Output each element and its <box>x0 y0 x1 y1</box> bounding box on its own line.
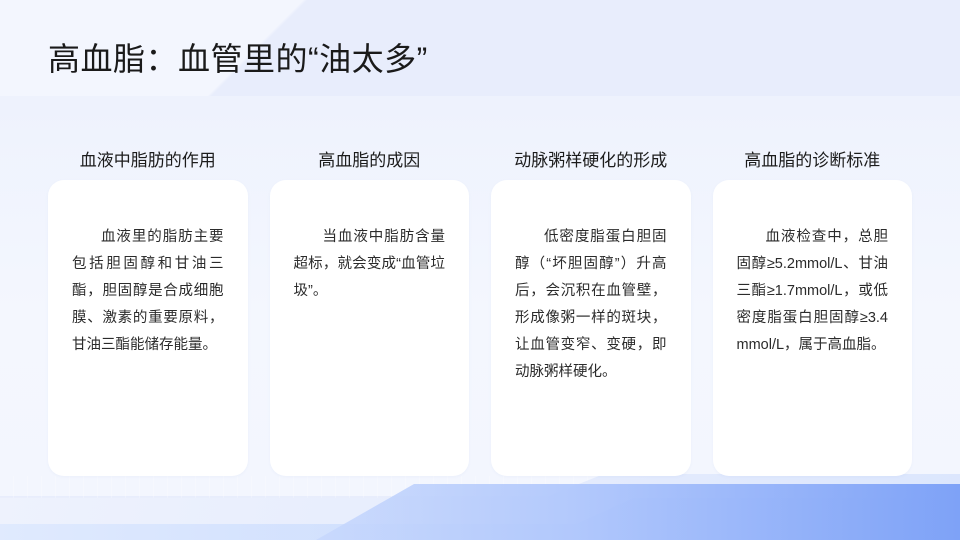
card-body-text: 当血液中脂肪含量超标，就会变成“血管垃圾”。 <box>294 224 446 305</box>
column-heading: 高血脂的诊断标准 <box>713 136 913 180</box>
card-body-text: 血液检查中，总胆固醇≥5.2mmol/L、甘油三酯≥1.7mmol/L，或低密度… <box>737 224 889 359</box>
column-atherosclerosis-formation: 动脉粥样硬化的形成 低密度脂蛋白胆固醇（“坏胆固醇”）升高后，会沉积在血管壁，形… <box>491 136 691 476</box>
card-body-text: 低密度脂蛋白胆固醇（“坏胆固醇”）升高后，会沉积在血管壁，形成像粥一样的斑块，让… <box>515 224 667 386</box>
card-body-text: 血液里的脂肪主要包括胆固醇和甘油三酯，胆固醇是合成细胞膜、激素的重要原料，甘油三… <box>72 224 224 359</box>
slide-root: 高血脂：血管里的“油太多” 血液中脂肪的作用 血液里的脂肪主要包括胆固醇和甘油三… <box>0 0 960 540</box>
column-heading: 高血脂的成因 <box>270 136 470 180</box>
column-heading: 血液中脂肪的作用 <box>48 136 248 180</box>
decorative-band-blue <box>260 484 960 540</box>
content-card: 血液里的脂肪主要包括胆固醇和甘油三酯，胆固醇是合成细胞膜、激素的重要原料，甘油三… <box>48 180 248 476</box>
content-columns: 血液中脂肪的作用 血液里的脂肪主要包括胆固醇和甘油三酯，胆固醇是合成细胞膜、激素… <box>48 136 912 476</box>
column-heading: 动脉粥样硬化的形成 <box>491 136 691 180</box>
decorative-hairline-texture <box>0 476 960 506</box>
column-hyperlipidemia-causes: 高血脂的成因 当血液中脂肪含量超标，就会变成“血管垃圾”。 <box>270 136 470 476</box>
slide-title: 高血脂：血管里的“油太多” <box>48 36 428 82</box>
content-card: 低密度脂蛋白胆固醇（“坏胆固醇”）升高后，会沉积在血管壁，形成像粥一样的斑块，让… <box>491 180 691 476</box>
column-diagnostic-criteria: 高血脂的诊断标准 血液检查中，总胆固醇≥5.2mmol/L、甘油三酯≥1.7mm… <box>713 136 913 476</box>
decorative-band-pale <box>0 474 960 540</box>
content-card: 当血液中脂肪含量超标，就会变成“血管垃圾”。 <box>270 180 470 476</box>
decorative-band-blue-soft <box>0 498 960 540</box>
content-card: 血液检查中，总胆固醇≥5.2mmol/L、甘油三酯≥1.7mmol/L，或低密度… <box>713 180 913 476</box>
column-blood-fat-role: 血液中脂肪的作用 血液里的脂肪主要包括胆固醇和甘油三酯，胆固醇是合成细胞膜、激素… <box>48 136 248 476</box>
